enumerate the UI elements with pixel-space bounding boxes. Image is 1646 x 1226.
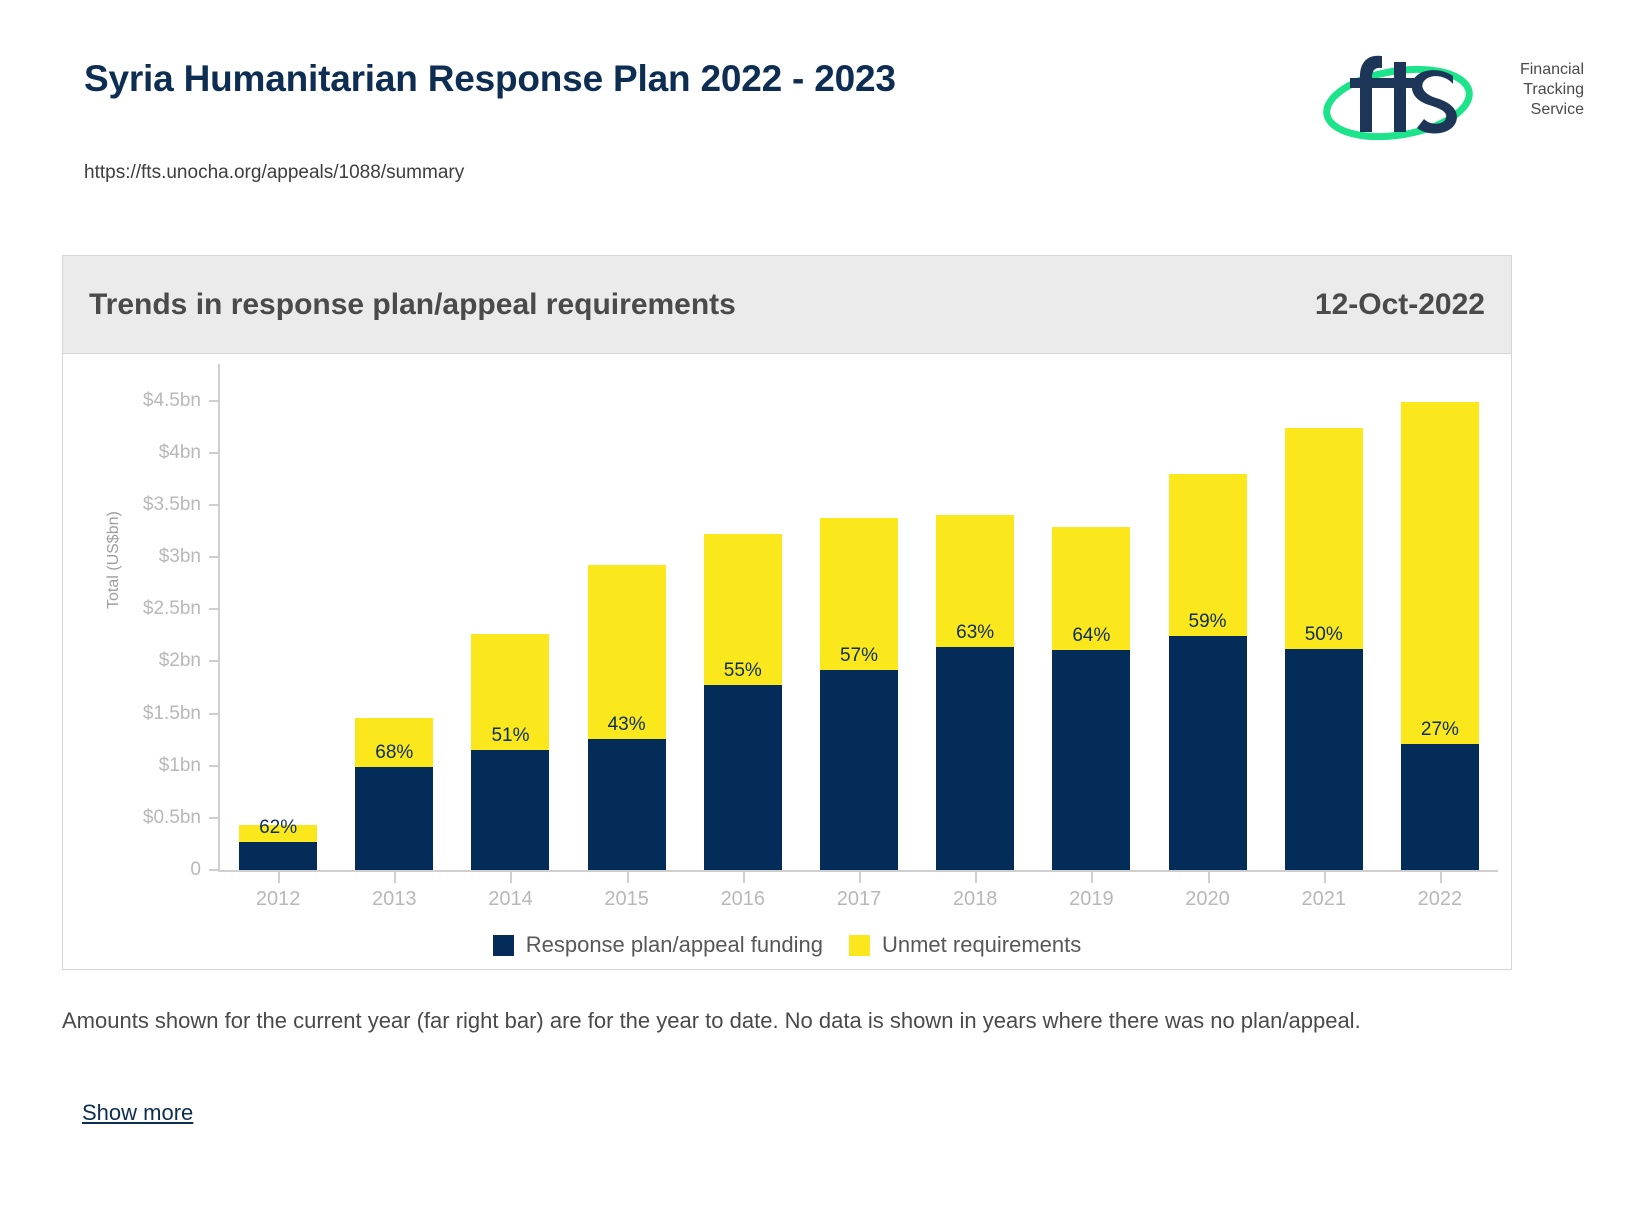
bar-segment-unmet[interactable]: 50% [1285, 428, 1363, 649]
bar-percent-label: 63% [936, 623, 1014, 643]
fts-logo-line-1: Financial [1520, 60, 1584, 80]
source-url: https://fts.unocha.org/appeals/1088/summ… [84, 162, 464, 184]
y-tick-label: $2.5bn [63, 598, 201, 620]
chart-footnote: Amounts shown for the current year (far … [62, 1000, 1514, 1042]
bar-column[interactable]: 64% [1052, 527, 1130, 870]
bar-segment-unmet[interactable]: 64% [1052, 527, 1130, 650]
bar-percent-label: 55% [704, 661, 782, 681]
x-tick-label: 2017 [837, 888, 882, 911]
y-tick-label: $4.5bn [63, 390, 201, 412]
y-tick-label: $3.5bn [63, 494, 201, 516]
bar-segment-unmet[interactable]: 59% [1169, 474, 1247, 637]
bar-column[interactable]: 68% [355, 718, 433, 870]
x-tick-mark [975, 872, 977, 883]
bar-segment-unmet[interactable]: 55% [704, 534, 782, 685]
bar-segment-unmet[interactable]: 51% [471, 634, 549, 750]
page-title: Syria Humanitarian Response Plan 2022 - … [84, 58, 896, 100]
y-tick-mark [209, 660, 219, 662]
bar-segment-funded[interactable] [936, 647, 1014, 870]
bar-column[interactable]: 27% [1401, 402, 1479, 870]
x-tick-label: 2013 [372, 888, 417, 911]
y-tick-mark [209, 817, 219, 819]
y-tick-label: $0.5bn [63, 807, 201, 829]
y-tick-label: 0 [63, 859, 201, 881]
bar-segment-unmet[interactable]: 57% [820, 518, 898, 669]
fts-logo: Financial Tracking Service [1314, 40, 1584, 145]
bar-segment-funded[interactable] [355, 767, 433, 870]
x-tick-mark [1208, 872, 1210, 883]
legend-swatch-icon [493, 935, 514, 956]
bar-segment-funded[interactable] [820, 670, 898, 870]
fts-logo-line-2: Tracking [1520, 80, 1584, 100]
chart-date: 12-Oct-2022 [1315, 288, 1485, 322]
chart-area: Total (US$bn) 0$0.5bn$1bn$1.5bn$2bn$2.5b… [63, 354, 1511, 969]
x-tick-label: 2012 [256, 888, 301, 911]
y-tick-label: $4bn [63, 442, 201, 464]
bar-segment-funded[interactable] [588, 739, 666, 870]
bar-percent-label: 43% [588, 715, 666, 735]
bar-percent-label: 57% [820, 646, 898, 666]
legend-label: Response plan/appeal funding [526, 932, 823, 958]
bar-percent-label: 27% [1401, 720, 1479, 740]
bar-column[interactable]: 62% [239, 825, 317, 870]
bar-segment-unmet[interactable]: 63% [936, 515, 1014, 646]
x-tick-mark [627, 872, 629, 883]
bar-segment-funded[interactable] [1285, 649, 1363, 870]
y-tick-label: $2bn [63, 650, 201, 672]
legend-item[interactable]: Unmet requirements [849, 932, 1081, 958]
x-tick-mark [1324, 872, 1326, 883]
bar-percent-label: 64% [1052, 626, 1130, 646]
x-tick-label: 2019 [1069, 888, 1114, 911]
bar-segment-unmet[interactable]: 43% [588, 565, 666, 738]
y-tick-mark [209, 452, 219, 454]
chart-card: Trends in response plan/appeal requireme… [62, 255, 1512, 970]
bar-segment-unmet[interactable]: 27% [1401, 402, 1479, 744]
y-tick-mark [209, 869, 219, 871]
plot-region: 62%68%51%43%55%57%63%64%59%50%27% [220, 364, 1498, 870]
bar-percent-label: 68% [355, 743, 433, 763]
x-tick-mark [859, 872, 861, 883]
x-tick-mark [510, 872, 512, 883]
x-tick-label: 2015 [604, 888, 649, 911]
show-more-link[interactable]: Show more [82, 1100, 193, 1126]
bar-column[interactable]: 55% [704, 534, 782, 870]
x-tick-label: 2020 [1185, 888, 1230, 911]
y-tick-mark [209, 504, 219, 506]
bar-column[interactable]: 63% [936, 515, 1014, 870]
bar-percent-label: 51% [471, 726, 549, 746]
bar-segment-funded[interactable] [1401, 744, 1479, 870]
y-tick-label: $1.5bn [63, 703, 201, 725]
bar-segment-funded[interactable] [1169, 636, 1247, 870]
y-tick-mark [209, 400, 219, 402]
legend-label: Unmet requirements [882, 932, 1081, 958]
x-tick-label: 2021 [1301, 888, 1346, 911]
bar-percent-label: 62% [239, 818, 317, 838]
bar-segment-funded[interactable] [471, 750, 549, 870]
bar-segment-funded[interactable] [704, 685, 782, 870]
x-tick-label: 2014 [488, 888, 533, 911]
x-tick-mark [1440, 872, 1442, 883]
chart-card-header: Trends in response plan/appeal requireme… [63, 256, 1511, 354]
y-tick-mark [209, 765, 219, 767]
y-tick-mark [209, 713, 219, 715]
fts-logo-icon [1314, 40, 1479, 145]
fts-logo-wordmark: Financial Tracking Service [1520, 60, 1584, 120]
bar-column[interactable]: 51% [471, 634, 549, 870]
bar-column[interactable]: 43% [588, 565, 666, 870]
bar-column[interactable]: 57% [820, 518, 898, 870]
bar-segment-unmet[interactable]: 68% [355, 718, 433, 767]
x-tick-label: 2022 [1418, 888, 1463, 911]
x-tick-label: 2018 [953, 888, 998, 911]
y-tick-mark [209, 608, 219, 610]
fts-logo-line-3: Service [1520, 100, 1584, 120]
y-tick-label: $3bn [63, 546, 201, 568]
y-tick-label: $1bn [63, 755, 201, 777]
chart-title: Trends in response plan/appeal requireme… [89, 288, 736, 322]
bar-segment-unmet[interactable]: 62% [239, 825, 317, 842]
bar-percent-label: 50% [1285, 625, 1363, 645]
bar-segment-funded[interactable] [239, 842, 317, 870]
x-tick-label: 2016 [721, 888, 766, 911]
legend-item[interactable]: Response plan/appeal funding [493, 932, 823, 958]
x-tick-mark [394, 872, 396, 883]
x-tick-mark [743, 872, 745, 883]
x-tick-mark [1091, 872, 1093, 883]
bar-column[interactable]: 59% [1169, 474, 1247, 870]
y-tick-mark [209, 556, 219, 558]
chart-legend: Response plan/appeal fundingUnmet requir… [63, 932, 1511, 958]
bar-column[interactable]: 50% [1285, 428, 1363, 870]
legend-swatch-icon [849, 935, 870, 956]
page-header: Syria Humanitarian Response Plan 2022 - … [0, 0, 1646, 46]
bar-percent-label: 59% [1169, 612, 1247, 632]
x-tick-mark [278, 872, 280, 883]
bar-segment-funded[interactable] [1052, 650, 1130, 870]
x-axis-line [218, 870, 1498, 872]
